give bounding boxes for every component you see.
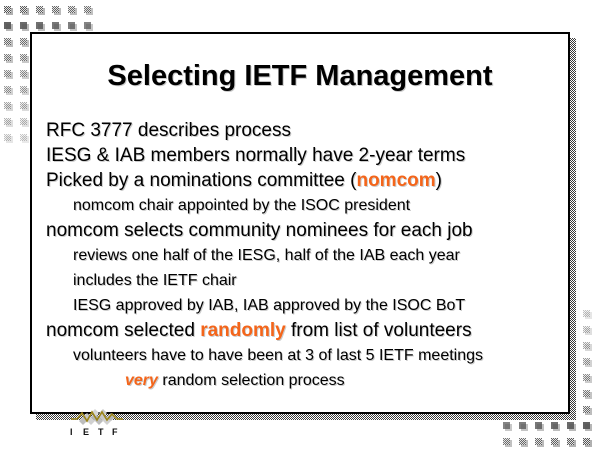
decorative-square: [4, 118, 13, 127]
decorative-square: [535, 438, 544, 447]
bullet-line: nomcom selected randomly from list of vo…: [46, 318, 566, 343]
decorative-square: [567, 438, 576, 447]
decorative-square: [519, 438, 528, 447]
decorative-square: [20, 86, 29, 95]
bullet-line: IESG approved by IAB, IAB approved by th…: [46, 293, 566, 318]
decorative-square: [4, 102, 13, 111]
bullet-list: RFC 3777 describes processIESG & IAB mem…: [46, 118, 566, 393]
decorative-square: [52, 6, 61, 15]
bullet-text: IESG approved by IAB, IAB approved by th…: [73, 297, 465, 314]
decorative-square: [503, 438, 512, 447]
decorative-square: [20, 54, 29, 63]
svg-text:I: I: [70, 427, 73, 437]
logo-wordmark: I E T F: [70, 427, 118, 437]
decorative-square: [20, 102, 29, 111]
bullet-text: nomcom selects community nominees for ea…: [46, 220, 473, 241]
decorative-square: [583, 358, 592, 367]
decorative-square: [20, 22, 29, 31]
decorative-square: [583, 342, 592, 351]
decorative-square: [20, 70, 29, 79]
decorative-square: [36, 22, 45, 31]
bullet-text: reviews one half of the IESG, half of th…: [73, 247, 460, 264]
bullet-text: volunteers have to have been at 3 of las…: [73, 347, 483, 364]
decorative-square: [68, 6, 77, 15]
decorative-square: [4, 86, 13, 95]
bullet-line: IESG & IAB members normally have 2-year …: [46, 143, 566, 168]
bullet-text-highlight: very: [125, 372, 158, 389]
bullet-text: Picked by a nominations committee (: [46, 170, 356, 191]
bullet-text: RFC 3777 describes process: [46, 120, 291, 141]
decorative-square: [567, 422, 576, 431]
decorative-square: [583, 326, 592, 335]
decorative-square: [551, 422, 560, 431]
bullet-line: reviews one half of the IESG, half of th…: [46, 243, 566, 268]
decorative-square: [20, 6, 29, 15]
bullet-line: RFC 3777 describes process: [46, 118, 566, 143]
svg-text:T: T: [98, 427, 104, 437]
slide-canvas: Selecting IETF Management RFC 3777 descr…: [0, 0, 600, 450]
decorative-square: [68, 22, 77, 31]
decorative-square: [20, 38, 29, 47]
decorative-square: [84, 6, 93, 15]
bullet-text: nomcom selected: [46, 320, 200, 341]
bullet-line: nomcom selects community nominees for ea…: [46, 218, 566, 243]
decorative-square: [583, 390, 592, 399]
decorative-square: [4, 22, 13, 31]
ietf-logo: I E T F: [65, 403, 131, 438]
bullet-line: very random selection process: [46, 368, 566, 393]
bullet-text: includes the IETF chair: [73, 272, 237, 289]
decorative-square: [583, 438, 592, 447]
bullet-text: ): [436, 170, 442, 191]
decorative-square: [4, 54, 13, 63]
decorative-square: [519, 422, 528, 431]
svg-text:E: E: [83, 427, 89, 437]
bullet-text: random selection process: [158, 372, 345, 389]
decorative-square: [535, 422, 544, 431]
decorative-square: [4, 134, 13, 143]
bullet-text: nomcom chair appointed by the ISOC presi…: [73, 197, 410, 214]
decorative-square: [583, 310, 592, 319]
decorative-square: [84, 22, 93, 31]
decorative-square: [20, 134, 29, 143]
decorative-square: [503, 422, 512, 431]
bullet-text-highlight: nomcom: [356, 170, 435, 191]
bullet-line: Picked by a nominations committee (nomco…: [46, 168, 566, 193]
decorative-square: [20, 118, 29, 127]
decorative-square: [583, 422, 592, 431]
decorative-square: [52, 22, 61, 31]
decorative-square: [583, 374, 592, 383]
bullet-text: from list of volunteers: [286, 320, 472, 341]
decorative-square: [4, 6, 13, 15]
bullet-text-highlight: randomly: [200, 320, 286, 341]
decorative-square: [583, 406, 592, 415]
decorative-square: [4, 70, 13, 79]
decorative-square: [4, 38, 13, 47]
slide-panel: Selecting IETF Management RFC 3777 descr…: [30, 32, 570, 414]
bullet-line: nomcom chair appointed by the ISOC presi…: [46, 193, 566, 218]
page-title: Selecting IETF Management: [32, 60, 568, 93]
decorative-square: [36, 6, 45, 15]
svg-text:F: F: [112, 427, 118, 437]
bullet-line: includes the IETF chair: [46, 268, 566, 293]
bullet-text: IESG & IAB members normally have 2-year …: [46, 145, 465, 166]
bullet-line: volunteers have to have been at 3 of las…: [46, 343, 566, 368]
decorative-square: [551, 438, 560, 447]
